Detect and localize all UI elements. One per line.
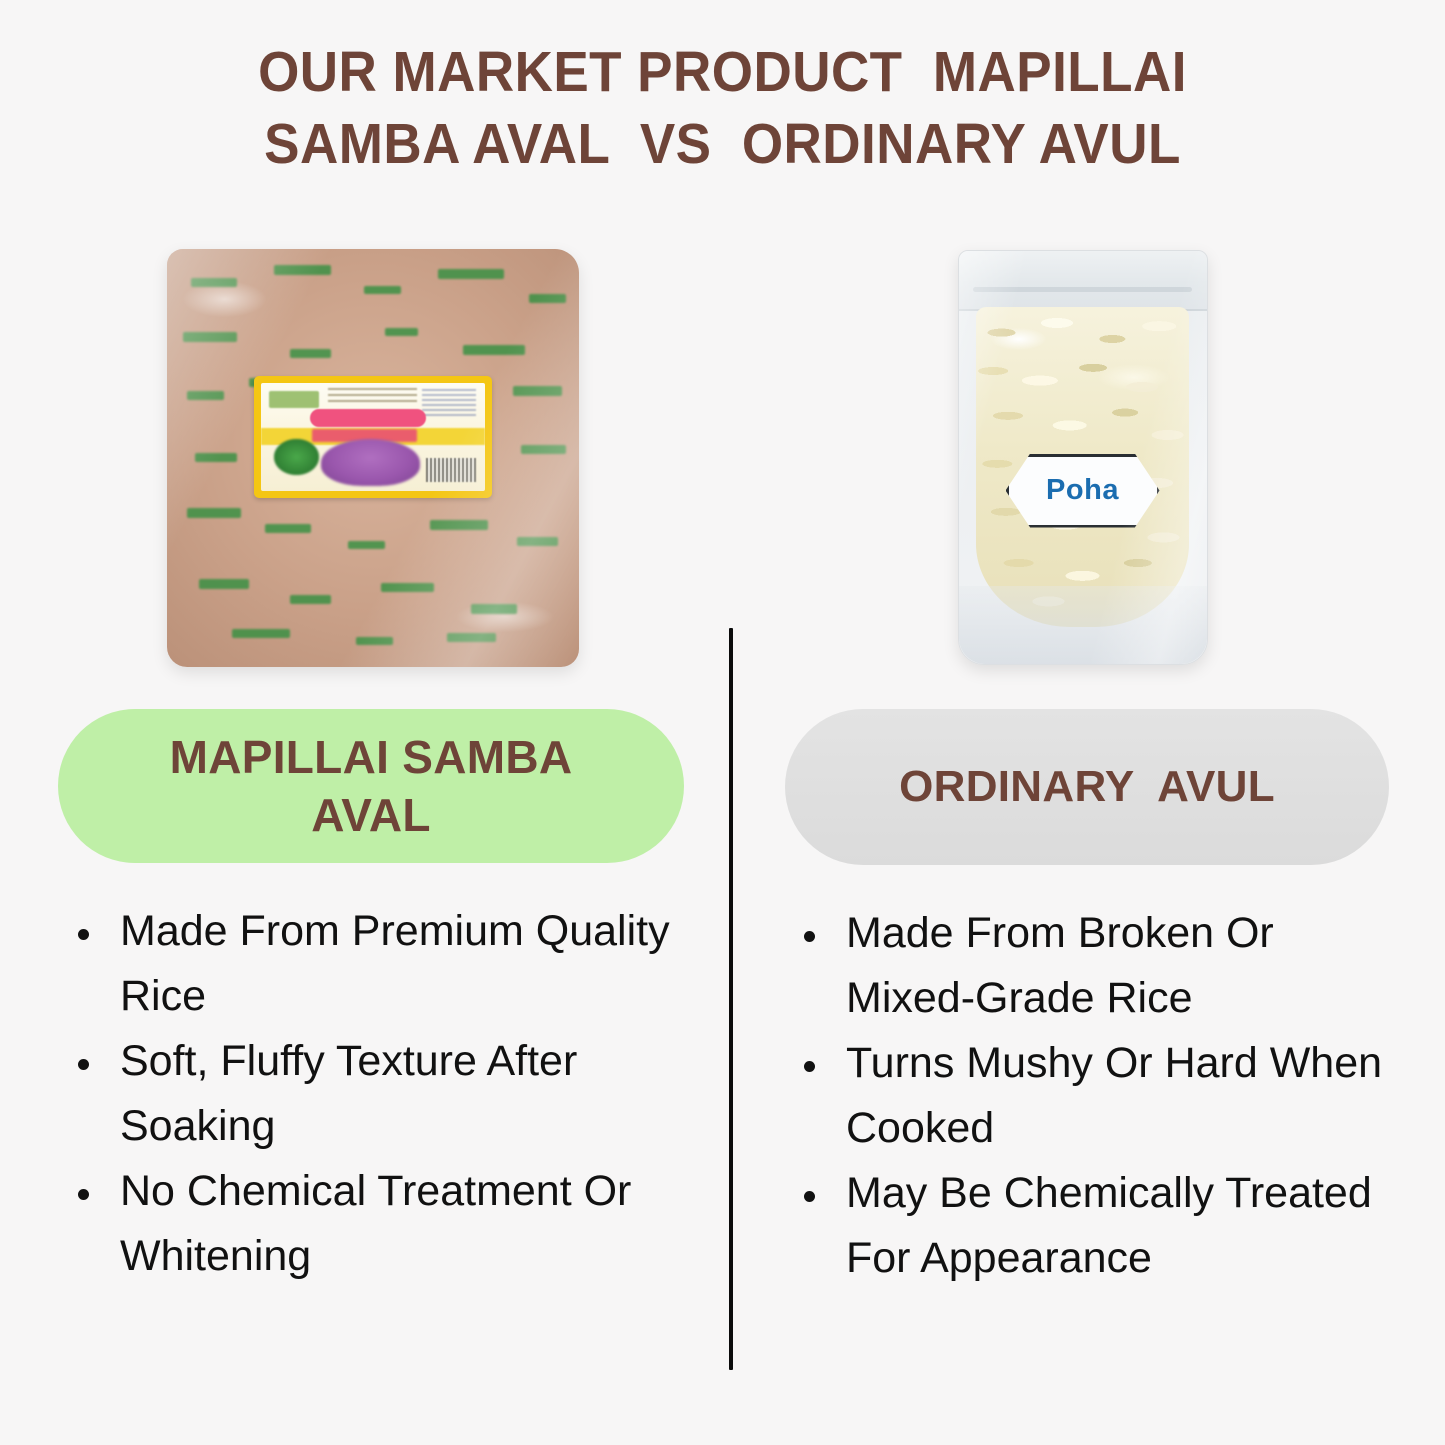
poha-hexagon-label: Poha [1006,454,1160,528]
list-item: Made From Broken Or Mixed-Grade Rice [788,901,1403,1031]
ordinary-poha-pouch-image: Poha [958,250,1208,665]
aval-bag-product-label [254,376,492,498]
left-product-photo [40,230,705,685]
list-item: No Chemical Treatment Or Whitening [62,1159,702,1289]
page-title: OUR MARKET PRODUCT MAPILLAI SAMBA AVAL V… [0,36,1445,180]
page-title-line-1: OUR MARKET PRODUCT MAPILLAI [51,36,1395,108]
page-title-line-2: SAMBA AVAL VS ORDINARY AVUL [51,108,1395,180]
poha-label-text: Poha [1046,474,1119,507]
comparison-column-left: MAPILLAI SAMBA AVAL Made From Premium Qu… [40,230,705,1289]
pouch-zip-seal [959,251,1207,311]
mapillai-samba-aval-bag-image [167,249,579,667]
comparison-column-right: Poha ORDINARY AVUL Made From Broken Or M… [760,230,1405,1291]
list-item: Made From Premium Quality Rice [62,899,702,1029]
left-feature-list: Made From Premium Quality Rice Soft, Flu… [62,899,702,1289]
list-item: May Be Chemically Treated For Appearance [788,1161,1403,1291]
right-product-photo: Poha [760,230,1405,685]
pouch-bottom-gusset [959,586,1207,664]
left-product-heading-pill: MAPILLAI SAMBA AVAL [58,709,684,863]
left-product-heading-text: MAPILLAI SAMBA AVAL [170,728,573,844]
vertical-comparison-divider [729,628,733,1370]
right-product-heading-pill: ORDINARY AVUL [785,709,1389,865]
list-item: Turns Mushy Or Hard When Cooked [788,1031,1403,1161]
right-feature-list: Made From Broken Or Mixed-Grade Rice Tur… [788,901,1403,1291]
right-product-heading-text: ORDINARY AVUL [899,758,1275,816]
list-item: Soft, Fluffy Texture After Soaking [62,1029,702,1159]
